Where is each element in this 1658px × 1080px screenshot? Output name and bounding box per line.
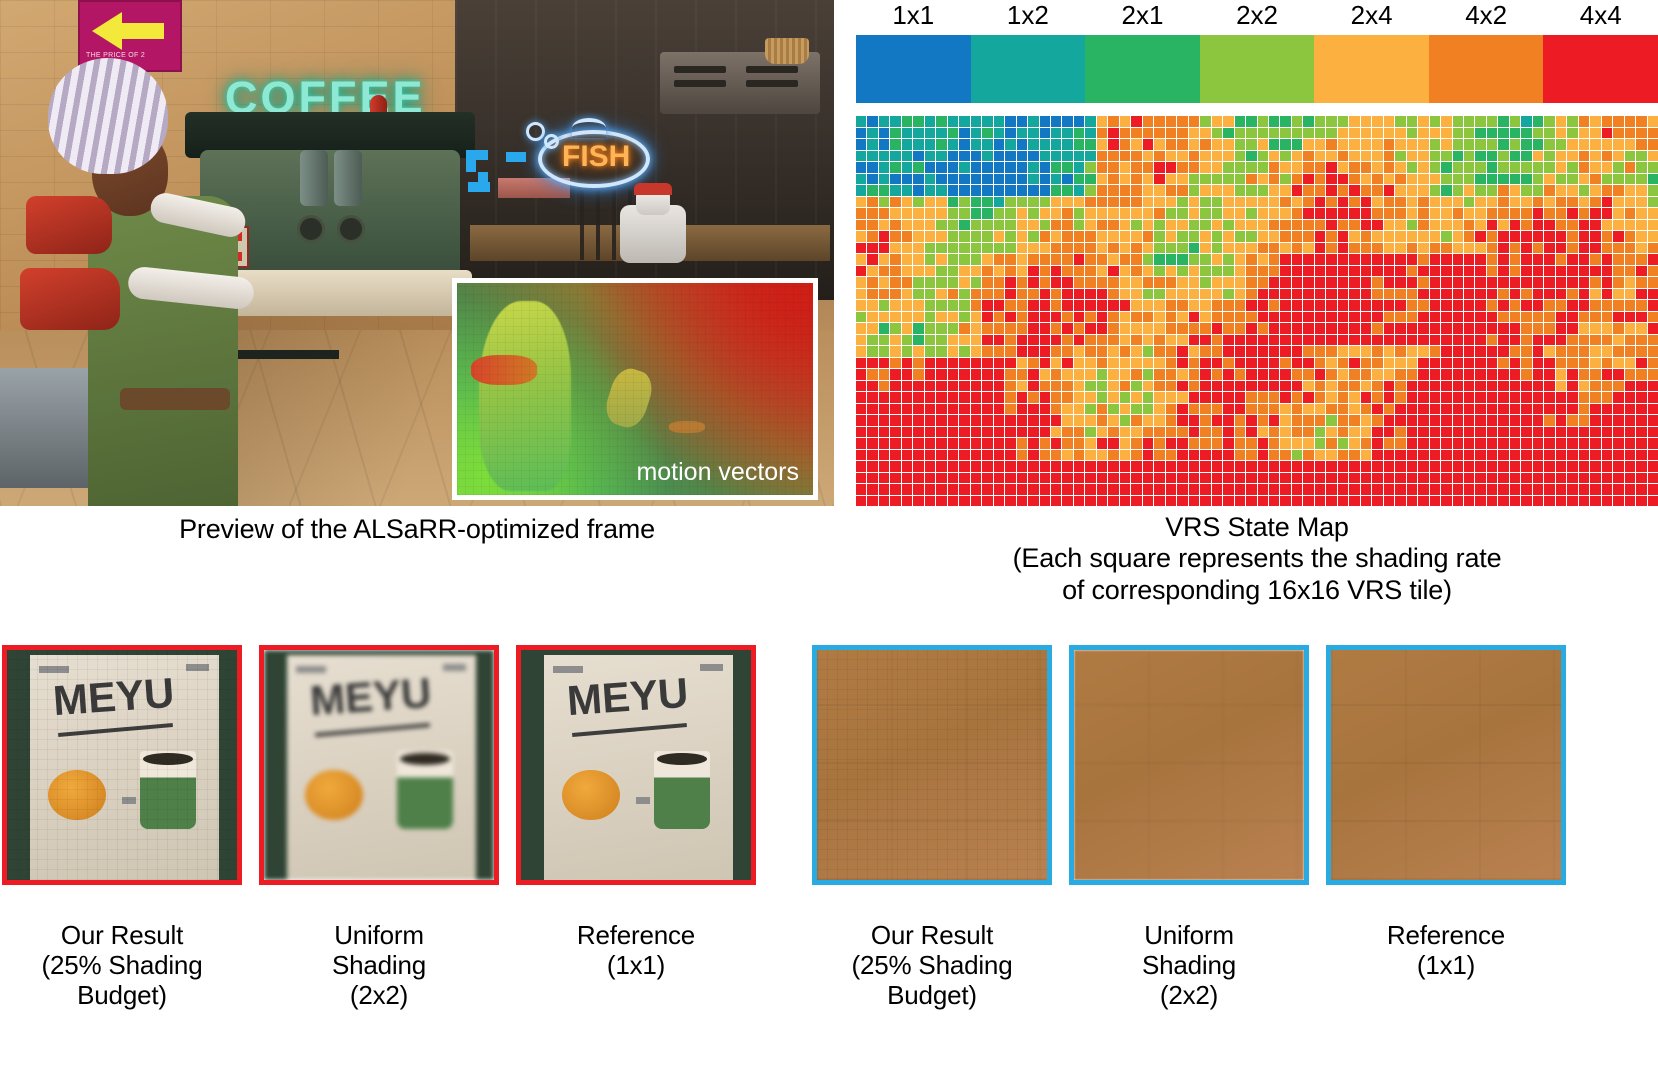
vrs-tile xyxy=(867,427,877,438)
vrs-tile xyxy=(1017,496,1027,507)
vrs-tile xyxy=(1028,300,1038,311)
vrs-tile xyxy=(1315,404,1325,415)
vrs-tile xyxy=(1062,438,1072,449)
vrs-tile xyxy=(948,116,958,127)
vrs-tile xyxy=(1430,346,1440,357)
vrs-tile xyxy=(1189,266,1199,277)
vrs-tile xyxy=(1602,277,1612,288)
vrs-tile xyxy=(1361,116,1371,127)
vrs-tile xyxy=(856,128,866,139)
legend-swatch-2x4 xyxy=(1314,35,1429,103)
vrs-tile xyxy=(971,473,981,484)
vrs-tile xyxy=(936,162,946,173)
vrs-tile xyxy=(1212,346,1222,357)
vrs-tile xyxy=(1372,404,1382,415)
vrs-tile xyxy=(1567,473,1577,484)
vrs-tile xyxy=(1085,197,1095,208)
vrs-tile xyxy=(1544,450,1554,461)
crop-red-caption-1: Uniform Shading (2x2) xyxy=(259,920,499,1010)
vrs-tile xyxy=(1430,139,1440,150)
vrs-tile xyxy=(1418,438,1428,449)
vrs-tile xyxy=(1338,300,1348,311)
vrs-tile xyxy=(936,323,946,334)
vrs-tile xyxy=(1292,381,1302,392)
vrs-tile xyxy=(890,139,900,150)
vrs-tile xyxy=(1166,254,1176,265)
vrs-tile xyxy=(1441,289,1451,300)
vrs-tile xyxy=(1200,392,1210,403)
caption-line: Budget) xyxy=(812,980,1052,1010)
vrs-tile xyxy=(1625,358,1635,369)
vrs-tile xyxy=(1303,335,1313,346)
vrs-caption: VRS State Map (Each square represents th… xyxy=(856,512,1658,606)
vrs-tile xyxy=(1579,289,1589,300)
vrs-tile xyxy=(1407,323,1417,334)
vrs-tile xyxy=(1223,473,1233,484)
vrs-tile xyxy=(1246,335,1256,346)
vrs-tile xyxy=(879,323,889,334)
vrs-tile xyxy=(1590,128,1600,139)
vrs-tile xyxy=(1395,461,1405,472)
vrs-tile xyxy=(1189,473,1199,484)
caption-line: (25% Shading xyxy=(812,950,1052,980)
vrs-tile xyxy=(856,415,866,426)
vrs-tile xyxy=(1453,346,1463,357)
vrs-tile xyxy=(1384,231,1394,242)
vrs-tile xyxy=(1097,174,1107,185)
vrs-tile xyxy=(948,197,958,208)
vrs-tile xyxy=(1051,404,1061,415)
vrs-tile xyxy=(1223,151,1233,162)
vrs-tile xyxy=(1556,346,1566,357)
vrs-tile xyxy=(1131,346,1141,357)
vrs-tile xyxy=(1384,300,1394,311)
vrs-tile xyxy=(1395,139,1405,150)
vrs-tile xyxy=(1005,254,1015,265)
vrs-tile xyxy=(1418,358,1428,369)
vrs-tile xyxy=(1407,392,1417,403)
vrs-tile xyxy=(902,358,912,369)
vrs-tile xyxy=(913,369,923,380)
vrs-tile xyxy=(856,438,866,449)
vrs-tile xyxy=(1235,381,1245,392)
vrs-tile xyxy=(1567,392,1577,403)
vrs-tile xyxy=(1108,243,1118,254)
caption-line: Shading xyxy=(259,950,499,980)
vrs-tile xyxy=(1567,496,1577,507)
vrs-tile xyxy=(1349,392,1359,403)
vrs-tile xyxy=(1062,415,1072,426)
vrs-tile xyxy=(1108,473,1118,484)
vrs-tile xyxy=(1407,496,1417,507)
vrs-tile xyxy=(1280,381,1290,392)
vrs-tile xyxy=(1120,473,1130,484)
vrs-tile xyxy=(994,312,1004,323)
vrs-tile xyxy=(1613,185,1623,196)
vrs-tile xyxy=(1441,438,1451,449)
vrs-tile xyxy=(1567,162,1577,173)
vrs-tile xyxy=(1567,323,1577,334)
vrs-tile xyxy=(1338,197,1348,208)
vrs-tile xyxy=(1154,381,1164,392)
vrs-tile xyxy=(1028,404,1038,415)
vrs-tile xyxy=(913,231,923,242)
vrs-tile xyxy=(1338,392,1348,403)
vrs-tile xyxy=(1521,254,1531,265)
vrs-tile xyxy=(1338,243,1348,254)
vrs-tile xyxy=(1533,415,1543,426)
vrs-tile xyxy=(1131,277,1141,288)
vrs-tile xyxy=(1303,461,1313,472)
vrs-tile xyxy=(1338,484,1348,495)
vrs-tile xyxy=(1062,128,1072,139)
vrs-tile xyxy=(1567,128,1577,139)
vrs-tile xyxy=(1258,415,1268,426)
vrs-tile xyxy=(936,139,946,150)
vrs-tile xyxy=(1361,369,1371,380)
vrs-tile xyxy=(890,174,900,185)
vrs-tile xyxy=(1338,266,1348,277)
vrs-tile xyxy=(1028,197,1038,208)
vrs-tile xyxy=(1464,266,1474,277)
menu-poster-crop: MEYU xyxy=(7,650,237,880)
vrs-tile xyxy=(1510,323,1520,334)
vrs-tile xyxy=(1349,266,1359,277)
vrs-tile xyxy=(1040,381,1050,392)
vrs-tile xyxy=(1636,312,1646,323)
vrs-tile xyxy=(1475,277,1485,288)
robot-character xyxy=(620,205,686,263)
vrs-tile xyxy=(1349,369,1359,380)
vrs-tile xyxy=(982,346,992,357)
vrs-tile xyxy=(1475,450,1485,461)
vrs-tile xyxy=(1280,323,1290,334)
vrs-tile xyxy=(971,461,981,472)
vrs-tile xyxy=(936,404,946,415)
vrs-tile xyxy=(959,312,969,323)
vrs-tile xyxy=(1648,128,1658,139)
vrs-tile xyxy=(1590,254,1600,265)
vrs-tile xyxy=(1533,174,1543,185)
vrs-tile xyxy=(1326,162,1336,173)
vrs-tile xyxy=(948,415,958,426)
vrs-tile xyxy=(1625,346,1635,357)
vrs-tile xyxy=(1533,128,1543,139)
vrs-tile xyxy=(1235,496,1245,507)
vrs-tile xyxy=(959,289,969,300)
vrs-tile xyxy=(1453,300,1463,311)
crop-blue-caption-1: Uniform Shading (2x2) xyxy=(1069,920,1309,1010)
vrs-tile xyxy=(902,151,912,162)
vrs-tile xyxy=(1613,254,1623,265)
vrs-tile xyxy=(1602,289,1612,300)
vrs-tile xyxy=(1441,415,1451,426)
vrs-tile xyxy=(1120,369,1130,380)
vrs-tile xyxy=(1338,415,1348,426)
vrs-tile xyxy=(890,277,900,288)
vrs-tile xyxy=(1280,300,1290,311)
vrs-tile xyxy=(1326,404,1336,415)
vrs-tile xyxy=(1349,139,1359,150)
caption-line: (2x2) xyxy=(259,980,499,1010)
vrs-tile xyxy=(1418,162,1428,173)
vrs-tile xyxy=(867,162,877,173)
vrs-tile xyxy=(1521,220,1531,231)
vrs-tile xyxy=(1464,415,1474,426)
vrs-tile xyxy=(1131,323,1141,334)
vrs-tile xyxy=(1521,151,1531,162)
vrs-tile xyxy=(1533,484,1543,495)
vrs-tile xyxy=(1143,461,1153,472)
vrs-tile xyxy=(1258,231,1268,242)
character-belt xyxy=(120,388,230,410)
vrs-tile xyxy=(1407,427,1417,438)
vrs-tile xyxy=(1062,335,1072,346)
vrs-tile xyxy=(1143,197,1153,208)
vrs-tile xyxy=(890,450,900,461)
vrs-tile xyxy=(1051,116,1061,127)
vrs-tile xyxy=(1280,335,1290,346)
vrs-tile xyxy=(1200,254,1210,265)
vrs-tile xyxy=(1498,151,1508,162)
vrs-tile xyxy=(1074,461,1084,472)
vrs-tile xyxy=(1074,197,1084,208)
vrs-tile xyxy=(1166,381,1176,392)
vrs-tile xyxy=(1361,473,1371,484)
vrs-tile xyxy=(982,450,992,461)
vrs-tile xyxy=(982,185,992,196)
vrs-tile xyxy=(1418,346,1428,357)
vrs-tile xyxy=(982,128,992,139)
vrs-tile xyxy=(925,381,935,392)
vrs-tile xyxy=(879,116,889,127)
vrs-tile xyxy=(1005,358,1015,369)
vrs-tile xyxy=(1028,116,1038,127)
vrs-tile xyxy=(1177,381,1187,392)
vrs-tile xyxy=(1051,381,1061,392)
vrs-tile xyxy=(1154,323,1164,334)
vrs-tile xyxy=(925,243,935,254)
vrs-tile xyxy=(971,243,981,254)
vrs-tile xyxy=(1602,208,1612,219)
vrs-tile xyxy=(1361,461,1371,472)
vrs-tile xyxy=(1120,231,1130,242)
vrs-tile xyxy=(1212,185,1222,196)
vrs-tile xyxy=(1441,358,1451,369)
vrs-tile xyxy=(913,358,923,369)
vrs-tile xyxy=(1017,346,1027,357)
vrs-tile xyxy=(1280,128,1290,139)
vrs-tile xyxy=(1028,174,1038,185)
vrs-tile xyxy=(1258,484,1268,495)
vrs-tile xyxy=(982,197,992,208)
vrs-tile xyxy=(1315,289,1325,300)
vrs-tile xyxy=(948,300,958,311)
vrs-tile xyxy=(1510,369,1520,380)
vrs-tile xyxy=(1361,358,1371,369)
vrs-tile xyxy=(1510,231,1520,242)
vrs-tile xyxy=(948,254,958,265)
vrs-tile xyxy=(1349,185,1359,196)
vrs-tile xyxy=(1407,162,1417,173)
vrs-tile xyxy=(867,128,877,139)
vrs-tile xyxy=(1613,162,1623,173)
vrs-tile xyxy=(1212,335,1222,346)
vrs-tile xyxy=(1498,128,1508,139)
vrs-tile xyxy=(902,427,912,438)
vrs-tile xyxy=(1384,438,1394,449)
vrs-tile xyxy=(856,450,866,461)
vrs-tile xyxy=(971,438,981,449)
vrs-tile xyxy=(1372,438,1382,449)
vrs-tile xyxy=(1246,116,1256,127)
vrs-tile xyxy=(1544,381,1554,392)
menu-word: MEYU xyxy=(565,669,689,725)
vrs-tile xyxy=(1475,116,1485,127)
vrs-tile xyxy=(994,220,1004,231)
vrs-tile xyxy=(1407,266,1417,277)
vrs-tile xyxy=(1407,415,1417,426)
vrs-tile xyxy=(1602,139,1612,150)
vrs-tile xyxy=(1579,404,1589,415)
vrs-tile xyxy=(1235,208,1245,219)
vrs-tile xyxy=(1613,174,1623,185)
vrs-tile xyxy=(1648,208,1658,219)
vrs-tile xyxy=(1590,220,1600,231)
vrs-tile xyxy=(1040,323,1050,334)
vrs-tile xyxy=(867,358,877,369)
vrs-tile xyxy=(1062,208,1072,219)
vrs-tile xyxy=(1567,312,1577,323)
blue-marker xyxy=(466,150,476,172)
vrs-tile xyxy=(913,174,923,185)
vrs-tile xyxy=(867,392,877,403)
vrs-tile xyxy=(1040,346,1050,357)
vrs-tile xyxy=(1189,335,1199,346)
vrs-tile xyxy=(1349,438,1359,449)
vrs-tile xyxy=(1062,139,1072,150)
vrs-tile xyxy=(1556,335,1566,346)
vrs-tile xyxy=(1395,254,1405,265)
vrs-tile xyxy=(1212,358,1222,369)
vrs-tile xyxy=(1212,128,1222,139)
vrs-tile xyxy=(1212,231,1222,242)
vrs-tile xyxy=(1349,415,1359,426)
vrs-tile xyxy=(1338,174,1348,185)
vrs-tile xyxy=(1464,346,1474,357)
vrs-tile xyxy=(1395,381,1405,392)
vrs-tile xyxy=(1258,208,1268,219)
vrs-tile xyxy=(1280,254,1290,265)
vrs-tile xyxy=(1189,312,1199,323)
vrs-tile xyxy=(1017,404,1027,415)
vrs-tile xyxy=(1074,438,1084,449)
vrs-tile xyxy=(1625,139,1635,150)
vrs-tile xyxy=(1338,208,1348,219)
vrs-tile xyxy=(1475,151,1485,162)
vrs-tile xyxy=(1017,162,1027,173)
vrs-tile xyxy=(1292,300,1302,311)
vrs-tile xyxy=(994,346,1004,357)
vrs-tile xyxy=(1005,312,1015,323)
vrs-tile xyxy=(1521,461,1531,472)
vrs-tile xyxy=(890,116,900,127)
vrs-tile xyxy=(1246,197,1256,208)
vrs-tile xyxy=(1579,427,1589,438)
vrs-tile xyxy=(1326,381,1336,392)
vrs-tile xyxy=(1498,369,1508,380)
vrs-tile xyxy=(856,197,866,208)
vrs-tile xyxy=(1384,335,1394,346)
vrs-tile xyxy=(1303,139,1313,150)
vrs-tile xyxy=(1648,139,1658,150)
vrs-tile xyxy=(1223,415,1233,426)
vrs-tile xyxy=(1166,496,1176,507)
vrs-tile xyxy=(1453,369,1463,380)
vrs-tile xyxy=(1567,335,1577,346)
vrs-tile xyxy=(1200,116,1210,127)
vrs-tile xyxy=(1521,289,1531,300)
vrs-tile xyxy=(1510,438,1520,449)
vrs-tile xyxy=(1544,162,1554,173)
vrs-tile xyxy=(994,266,1004,277)
vrs-tile xyxy=(1223,220,1233,231)
vrs-tile xyxy=(1453,162,1463,173)
vrs-tile xyxy=(1636,174,1646,185)
vrs-tile xyxy=(1235,151,1245,162)
vrs-tile xyxy=(1189,289,1199,300)
vrs-tile xyxy=(1498,415,1508,426)
vrs-tile xyxy=(1418,404,1428,415)
vrs-tile xyxy=(1246,162,1256,173)
vrs-tile xyxy=(1315,461,1325,472)
vrs-tile xyxy=(982,289,992,300)
legend-swatch-4x4 xyxy=(1543,35,1658,103)
vrs-tile xyxy=(1475,266,1485,277)
vrs-tile xyxy=(1074,369,1084,380)
preview-frame-image: THE PRICE OF 2 COFFEE FISH xyxy=(0,0,834,506)
wicker-basket xyxy=(765,38,809,64)
vrs-tile xyxy=(1510,116,1520,127)
vrs-tile xyxy=(867,197,877,208)
fish-fin xyxy=(572,118,606,138)
vrs-tile xyxy=(856,254,866,265)
vrs-tile xyxy=(1372,220,1382,231)
vrs-tile xyxy=(1235,266,1245,277)
vrs-tile xyxy=(1567,231,1577,242)
vrs-tile xyxy=(1177,346,1187,357)
vrs-tile xyxy=(1212,220,1222,231)
vrs-tile xyxy=(1590,381,1600,392)
vrs-tile xyxy=(1303,346,1313,357)
vrs-tile xyxy=(1131,197,1141,208)
vrs-tile xyxy=(1062,116,1072,127)
vrs-tile xyxy=(1051,450,1061,461)
vrs-tile xyxy=(1544,116,1554,127)
vrs-tile xyxy=(1200,220,1210,231)
vrs-tile xyxy=(890,312,900,323)
vrs-tile xyxy=(1005,427,1015,438)
vrs-tile xyxy=(948,208,958,219)
vrs-tile xyxy=(1097,139,1107,150)
vrs-tile xyxy=(1625,197,1635,208)
vrs-tile xyxy=(1361,162,1371,173)
vrs-tile xyxy=(1028,450,1038,461)
vrs-tile xyxy=(1235,335,1245,346)
vrs-tile xyxy=(982,243,992,254)
vrs-tile xyxy=(1453,496,1463,507)
vrs-tile xyxy=(1395,289,1405,300)
